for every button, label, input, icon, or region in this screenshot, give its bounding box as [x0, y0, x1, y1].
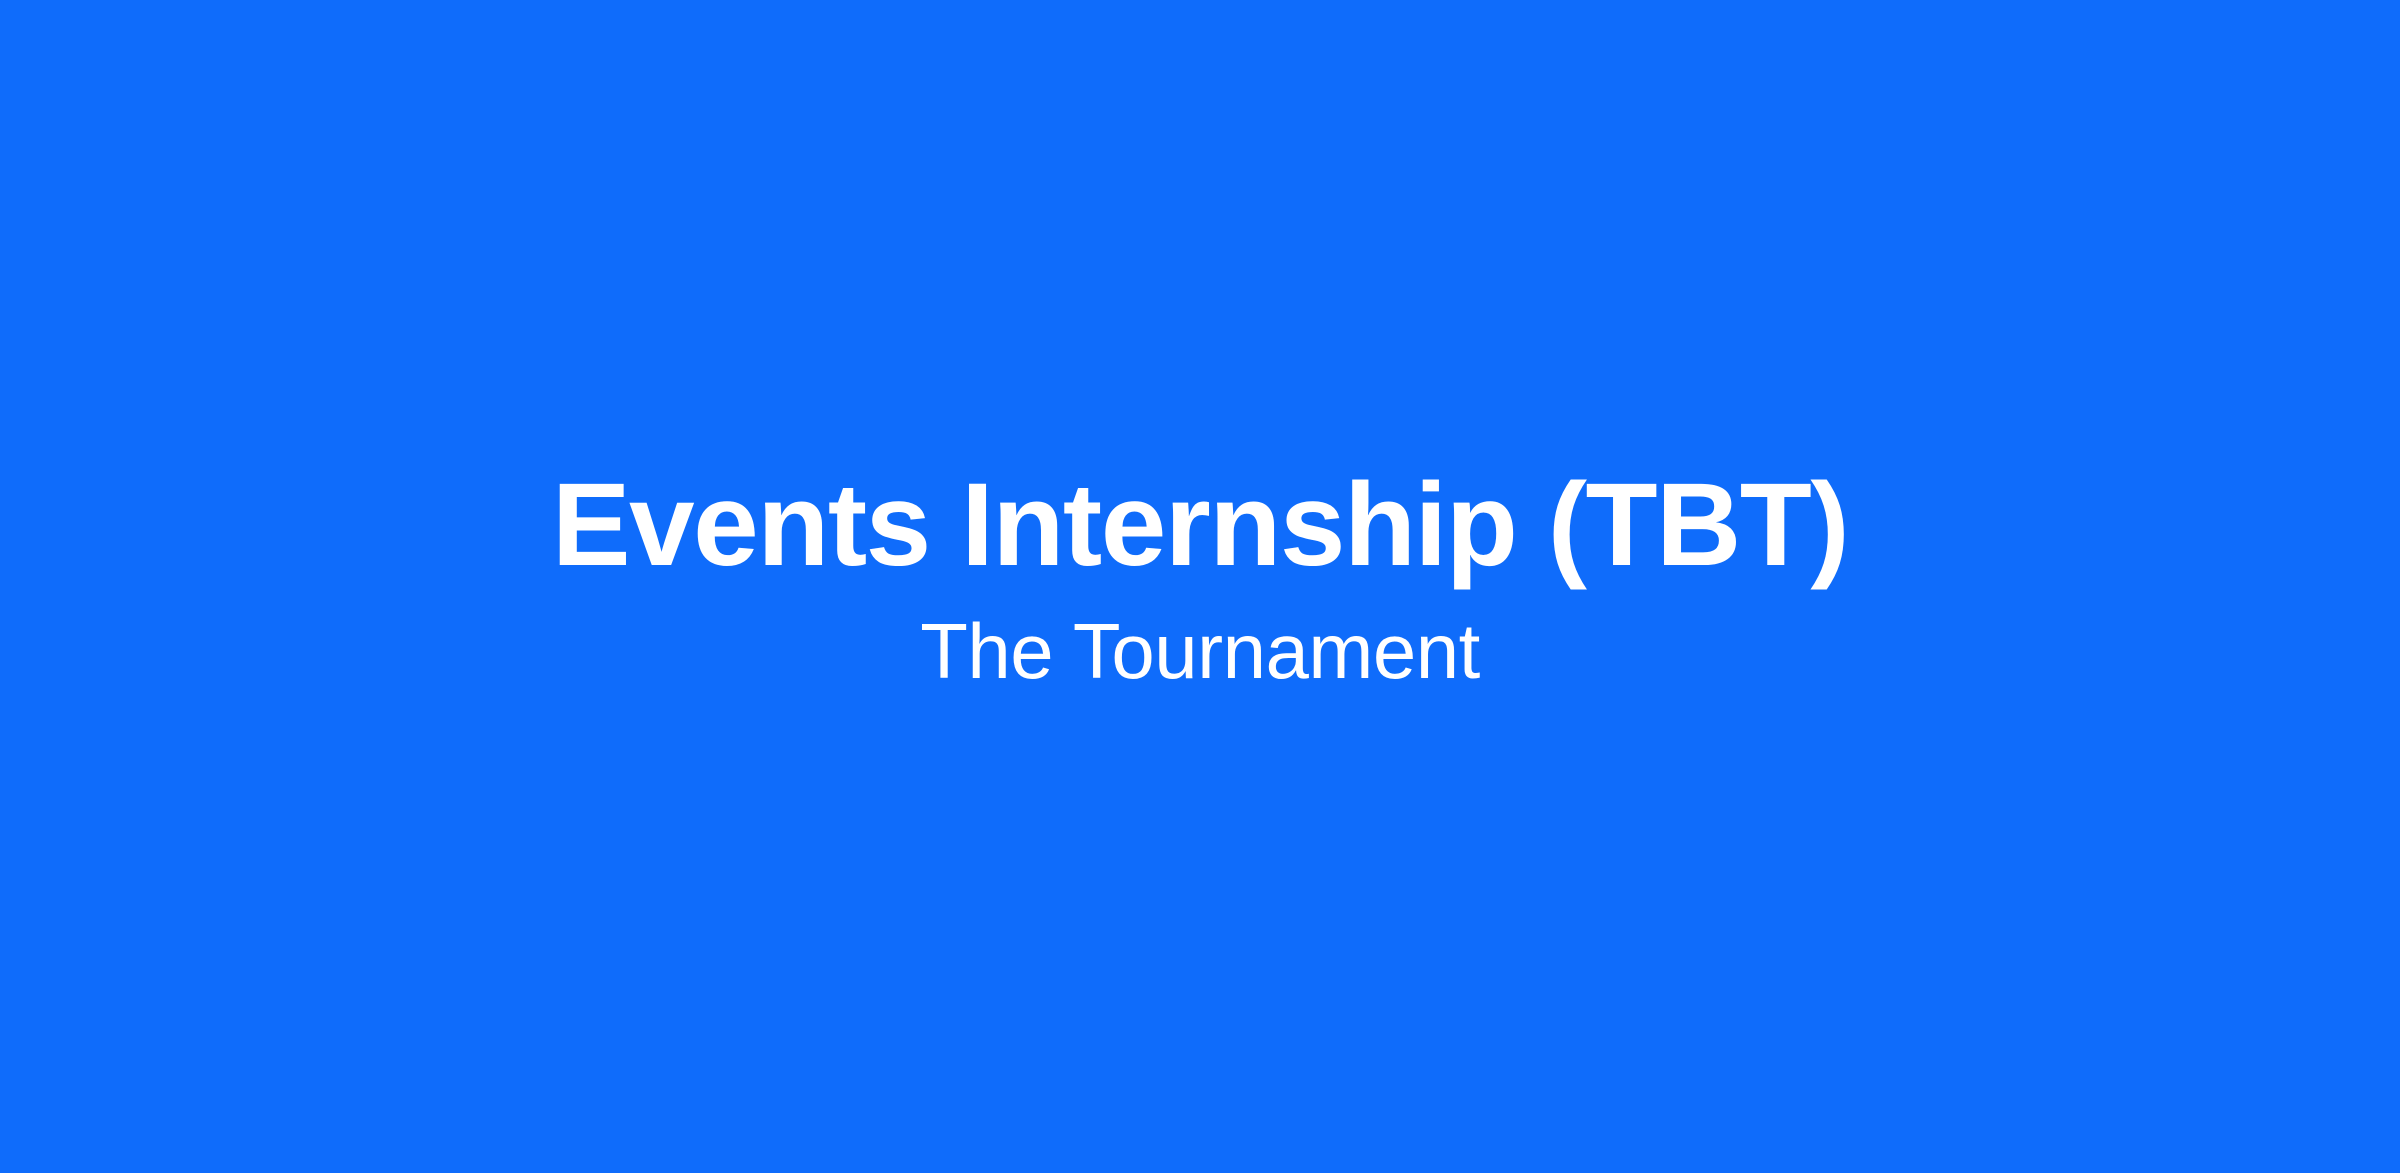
page-subtitle: The Tournament — [920, 612, 1480, 690]
title-block: Events Internship (TBT) The Tournament — [0, 466, 2400, 690]
page-title: Events Internship (TBT) — [552, 466, 1848, 584]
title-slide: Events Internship (TBT) The Tournament — [0, 0, 2400, 1173]
